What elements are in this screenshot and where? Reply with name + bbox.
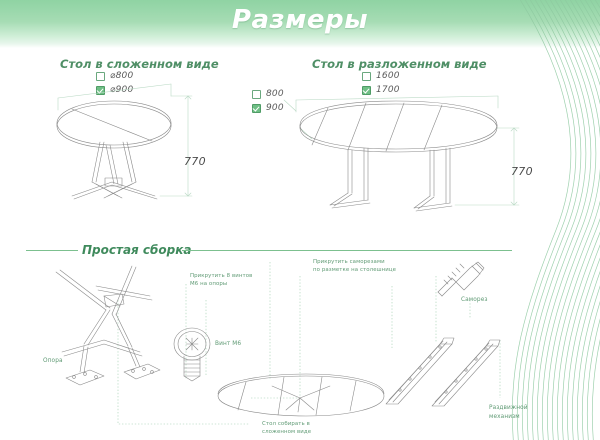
option-label: 1700 <box>376 85 400 95</box>
option-label: ⌀800 <box>110 71 133 81</box>
checkbox-checked[interactable] <box>252 104 261 113</box>
checkbox-unchecked[interactable] <box>362 72 371 81</box>
folded-diameter-options: ⌀800 ⌀900 <box>96 70 133 98</box>
dimension-height-unfolded: 770 <box>511 165 533 178</box>
assembly-rule-right <box>182 250 512 251</box>
option-row[interactable]: 1700 <box>362 84 400 96</box>
option-row[interactable]: ⌀800 <box>96 70 133 82</box>
page-title: Размеры <box>0 5 600 35</box>
note-screws: Прикрутить саморезами по разметке на сто… <box>313 258 396 274</box>
checkbox-checked[interactable] <box>362 86 371 95</box>
option-label: ⌀900 <box>110 85 133 95</box>
note-bolts: Прикрутить 8 винтов М6 на опоры <box>190 272 252 288</box>
option-label: 1600 <box>376 71 400 81</box>
option-row[interactable]: 900 <box>252 102 284 114</box>
part-label-opora: Опора <box>43 357 63 366</box>
unfolded-length-options: 1600 1700 <box>362 70 400 98</box>
dimension-height-folded: 770 <box>184 155 206 168</box>
option-row[interactable]: 800 <box>252 88 284 100</box>
option-label: 800 <box>266 89 284 99</box>
part-label-mechanism: Раздвижной механизм <box>489 404 528 421</box>
decorative-curves <box>470 0 600 440</box>
option-label: 900 <box>266 103 284 113</box>
checkbox-checked[interactable] <box>96 86 105 95</box>
unfolded-width-options: 800 900 <box>252 88 284 116</box>
checkbox-unchecked[interactable] <box>252 90 261 99</box>
part-label-samorez: Саморез <box>461 296 488 305</box>
page-root: Размеры Стол в сложенном виде Стол в раз… <box>0 0 600 440</box>
option-row[interactable]: 1600 <box>362 70 400 82</box>
assembly-rule-left <box>26 250 78 251</box>
section-title-assembly: Простая сборка <box>82 243 192 257</box>
option-row[interactable]: ⌀900 <box>96 84 133 96</box>
part-label-vint: Винт М6 <box>215 340 241 349</box>
note-assemble-folded: Стол собирать в сложенном виде <box>262 420 311 436</box>
section-title-unfolded: Стол в разложенном виде <box>312 57 487 71</box>
checkbox-unchecked[interactable] <box>96 72 105 81</box>
section-title-folded: Стол в сложенном виде <box>60 57 219 71</box>
